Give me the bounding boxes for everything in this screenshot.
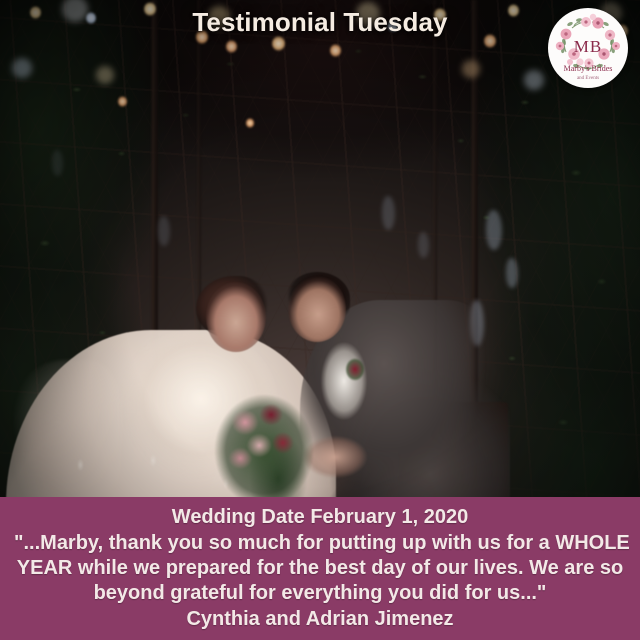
logo-tagline-text: and Events	[577, 76, 599, 81]
quote-line-3: beyond grateful for everything you did f…	[14, 581, 626, 606]
floral-wreath-monogram-icon: MB Marby's Brides and Events	[548, 8, 628, 88]
wedding-date-line: Wedding Date February 1, 2020	[14, 505, 626, 530]
bride-head	[206, 282, 266, 352]
testimonial-poster: Testimonial Tuesday	[0, 0, 640, 640]
bokeh-orb	[96, 66, 114, 84]
page-title: Testimonial Tuesday	[192, 7, 447, 38]
groom-dress-shirt	[318, 342, 370, 420]
logo-brand-text: Marby's Brides	[564, 64, 613, 73]
quote-line-2: YEAR while we prepared for the best day …	[14, 556, 626, 581]
bokeh-orb	[12, 58, 32, 78]
testimonial-signature: Cynthia and Adrian Jimenez	[14, 607, 626, 632]
brand-logo[interactable]: MB Marby's Brides and Events	[548, 8, 628, 88]
string-light-bulb	[330, 44, 341, 57]
bokeh-orb	[462, 60, 480, 78]
bokeh-orb	[524, 70, 544, 90]
groom-head	[288, 276, 346, 342]
testimonial-caption-banner: Wedding Date February 1, 2020 "...Marby,…	[0, 497, 640, 640]
title-bar: Testimonial Tuesday	[0, 0, 640, 44]
boutonniere	[344, 358, 366, 384]
sky-gap	[52, 150, 63, 176]
string-light-bulb	[118, 96, 127, 107]
string-light-bulb	[246, 118, 254, 128]
logo-monogram-text: MB	[574, 37, 602, 56]
quote-line-1: "...Marby, thank you so much for putting…	[14, 531, 626, 556]
